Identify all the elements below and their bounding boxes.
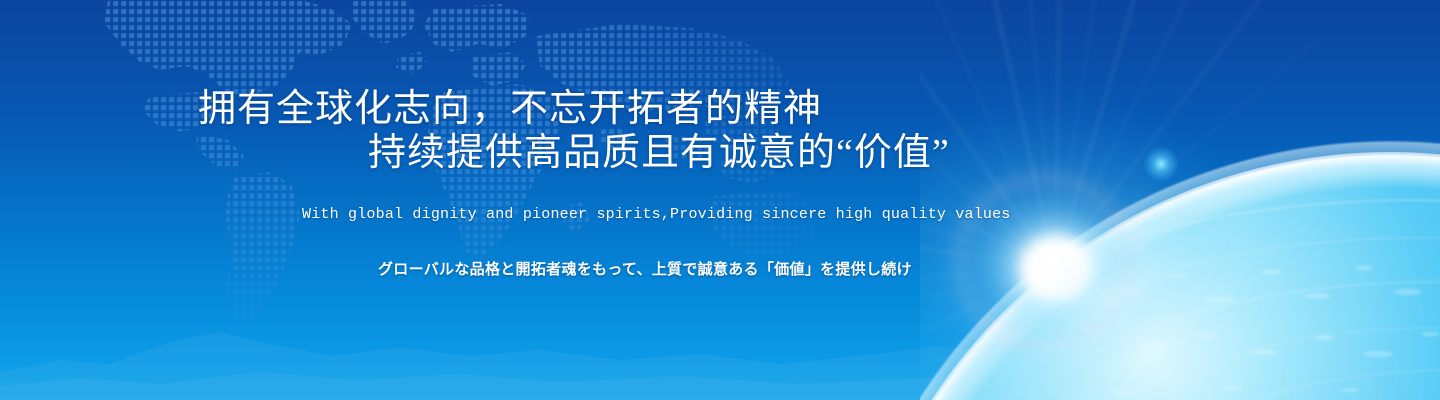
headline-line-2: 持续提供高品质且有诚意的“价值” — [368, 134, 950, 172]
banner-text-block: 拥有全球化志向，不忘开拓者的精神 持续提供高品质且有诚意的“价值” With g… — [0, 0, 1440, 400]
subtitle-english: With global dignity and pioneer spirits,… — [302, 206, 1011, 223]
headline-line-1: 拥有全球化志向，不忘开拓者的精神 — [198, 90, 822, 128]
subtitle-japanese: グローバルな品格と開拓者魂をもって、上質で誠意ある「価値」を提供し続け — [378, 258, 912, 279]
hero-banner: 拥有全球化志向，不忘开拓者的精神 持续提供高品质且有诚意的“价值” With g… — [0, 0, 1440, 400]
